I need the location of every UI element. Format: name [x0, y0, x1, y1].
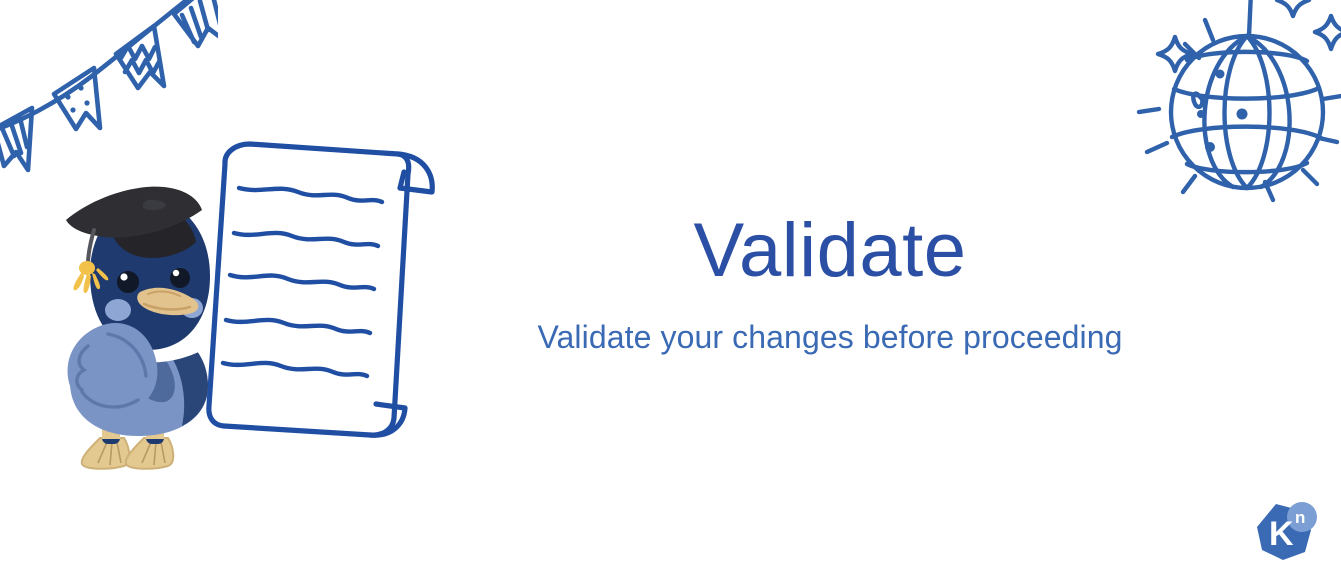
- diploma-scroll-icon: [176, 136, 466, 446]
- disco-ball-icon: [1125, 0, 1341, 227]
- logo-letter-n: n: [1295, 508, 1305, 527]
- graduation-cap-shape: [66, 187, 202, 293]
- page-title: Validate: [466, 205, 1194, 297]
- bird-feet-shape: [82, 438, 174, 469]
- graduate-bird-mascot: [52, 186, 242, 476]
- kn-logo[interactable]: K n: [1249, 500, 1321, 568]
- party-bunting-icon: [0, 0, 218, 174]
- hero-banner: Validate Validate your changes before pr…: [0, 0, 1341, 585]
- hero-text-block: Validate Validate your changes before pr…: [466, 205, 1194, 359]
- page-subtitle: Validate your changes before proceeding: [466, 315, 1194, 359]
- logo-letter-k: K: [1269, 515, 1294, 553]
